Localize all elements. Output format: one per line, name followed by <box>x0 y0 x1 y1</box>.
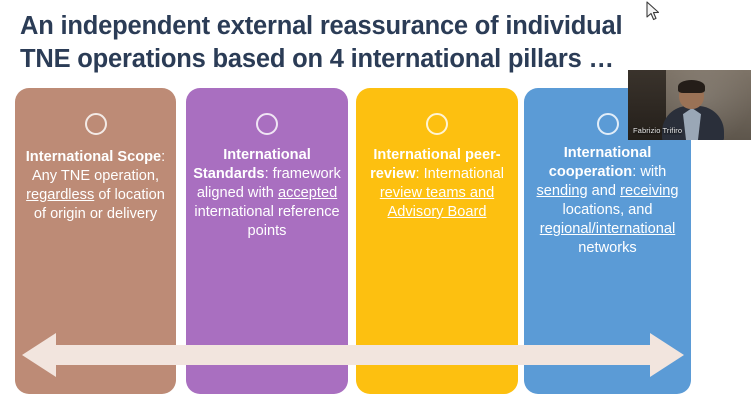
presentation-slide: An independent external reassurance of i… <box>0 0 751 401</box>
pillar-1-heading: International Scope <box>26 149 161 165</box>
pillar-1-text: International Scope: Any TNE operation, … <box>20 148 171 224</box>
pillar-3-text: International peer-review: International… <box>361 146 513 222</box>
pillar-card-international-scope[interactable]: International Scope: Any TNE operation, … <box>15 88 176 394</box>
mouse-pointer-icon <box>646 1 660 21</box>
webcam-person-shirt <box>683 108 701 140</box>
pillar-4-body-end: networks <box>578 240 636 256</box>
circle-outline-icon <box>597 113 619 135</box>
pillar-2-body-after: international reference points <box>194 204 339 239</box>
page-title: An independent external reassurance of i… <box>20 10 720 75</box>
pillar-1-separator: : <box>161 149 165 165</box>
pillar-3-body-before: International <box>424 166 504 182</box>
pillar-4-body-before: with <box>640 164 666 180</box>
pillar-2-text: International Standards: framework align… <box>191 146 343 241</box>
pillar-2-underlined: accepted <box>278 185 337 201</box>
pillar-card-international-standards[interactable]: International Standards: framework align… <box>186 88 348 394</box>
pillar-3-underlined: review teams and Advisory Board <box>380 185 494 220</box>
webcam-person-hair <box>678 80 705 93</box>
pillar-4-body-after: locations, and <box>562 202 652 218</box>
pillar-4-underlined: sending <box>537 183 588 199</box>
pillar-2-separator: : <box>265 166 273 182</box>
pillar-card-international-peer-review[interactable]: International peer-review: International… <box>356 88 518 394</box>
pillar-4-underlined-2: receiving <box>620 183 678 199</box>
circle-outline-icon <box>426 113 448 135</box>
pillar-1-body-before: Any TNE operation, <box>32 168 159 184</box>
pillar-3-separator: : <box>416 166 424 182</box>
pillar-4-text: International cooperation: with sending … <box>529 144 686 258</box>
circle-outline-icon <box>85 113 107 135</box>
pillar-4-body-mid: and <box>588 183 620 199</box>
pillar-4-underlined-3: regional/international <box>540 221 676 237</box>
pillar-1-underlined: regardless <box>26 187 94 203</box>
webcam-participant-name: Fabrizio Trifiro <box>633 127 682 135</box>
pillars-container: International Scope: Any TNE operation, … <box>15 88 691 394</box>
webcam-overlay[interactable]: Fabrizio Trifiro <box>628 70 751 140</box>
circle-outline-icon <box>256 113 278 135</box>
